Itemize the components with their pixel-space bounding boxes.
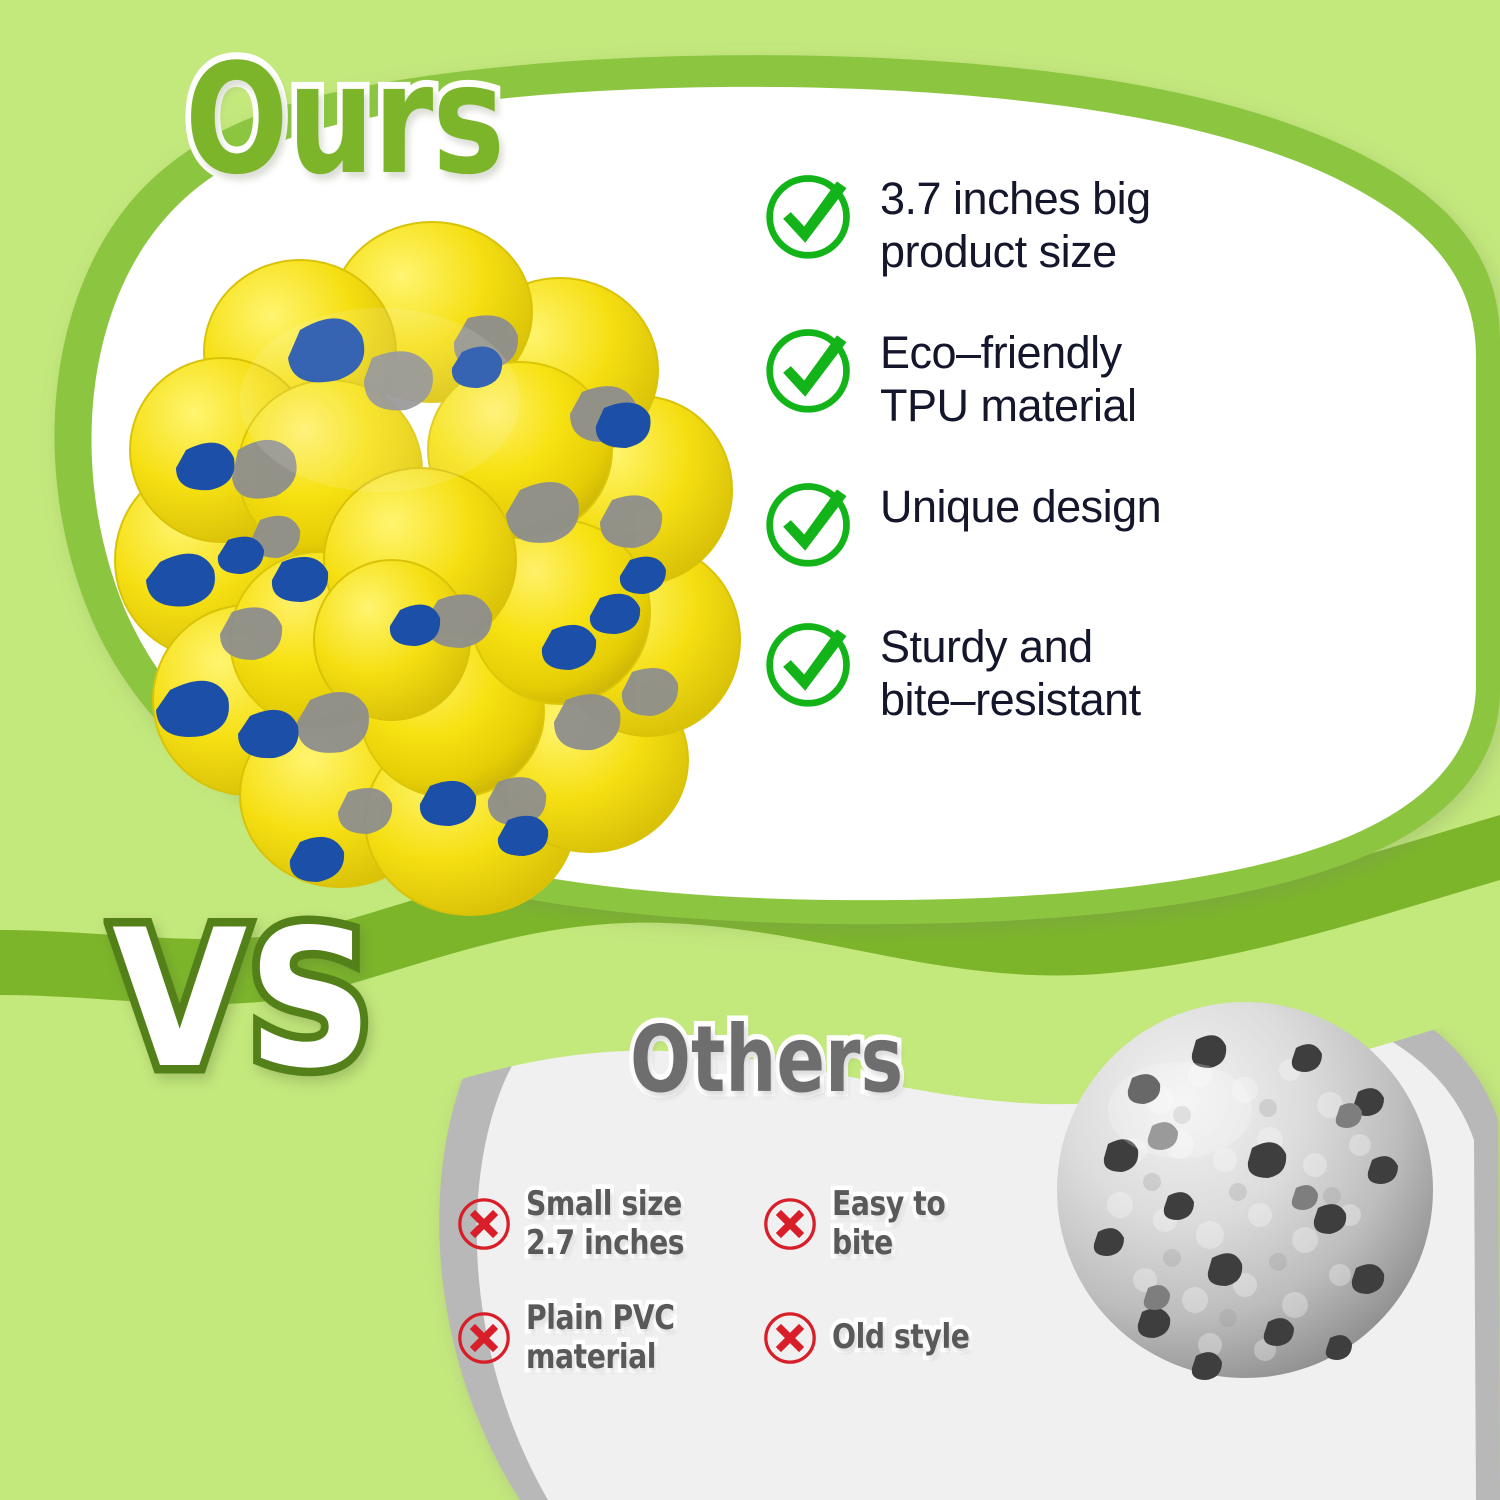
feature-item: Unique design: [762, 468, 1232, 572]
check-circle-icon: [762, 474, 858, 570]
others-cons-list: Small size 2.7 inches Easy to bite Plain…: [455, 1172, 1075, 1390]
con-item: Easy to bite: [761, 1172, 1053, 1276]
x-circle-icon: [455, 1195, 513, 1253]
con-label: Old style: [832, 1318, 969, 1357]
x-circle-icon: [761, 1309, 819, 1367]
check-circle-icon: [762, 166, 858, 262]
feature-item: 3.7 inches big product size: [762, 160, 1232, 278]
ours-feature-list: 3.7 inches big product size Eco–friendly…: [762, 160, 1232, 763]
x-circle-icon: [761, 1195, 819, 1253]
con-item: Small size 2.7 inches: [455, 1172, 747, 1276]
x-circle-icon: [455, 1309, 513, 1367]
comparison-infographic: Ours 3.7 inches big product size Eco–fri…: [0, 0, 1500, 1500]
feature-label: Sturdy and bite–resistant: [880, 608, 1141, 726]
versus-badge: VS: [112, 905, 373, 1095]
feature-label: Eco–friendly TPU material: [880, 314, 1137, 432]
con-item: Old style: [761, 1286, 1053, 1390]
feature-item: Eco–friendly TPU material: [762, 314, 1232, 432]
feature-item: Sturdy and bite–resistant: [762, 608, 1232, 726]
check-circle-icon: [762, 320, 858, 416]
others-title: Others: [630, 1014, 903, 1106]
con-label: Small size 2.7 inches: [526, 1185, 684, 1264]
check-circle-icon: [762, 614, 858, 710]
con-label: Plain PVC material: [526, 1299, 674, 1378]
ours-title: Ours: [185, 44, 504, 196]
feature-label: Unique design: [880, 468, 1161, 533]
con-item: Plain PVC material: [455, 1286, 747, 1390]
feature-label: 3.7 inches big product size: [880, 160, 1151, 278]
con-label: Easy to bite: [832, 1185, 1015, 1264]
